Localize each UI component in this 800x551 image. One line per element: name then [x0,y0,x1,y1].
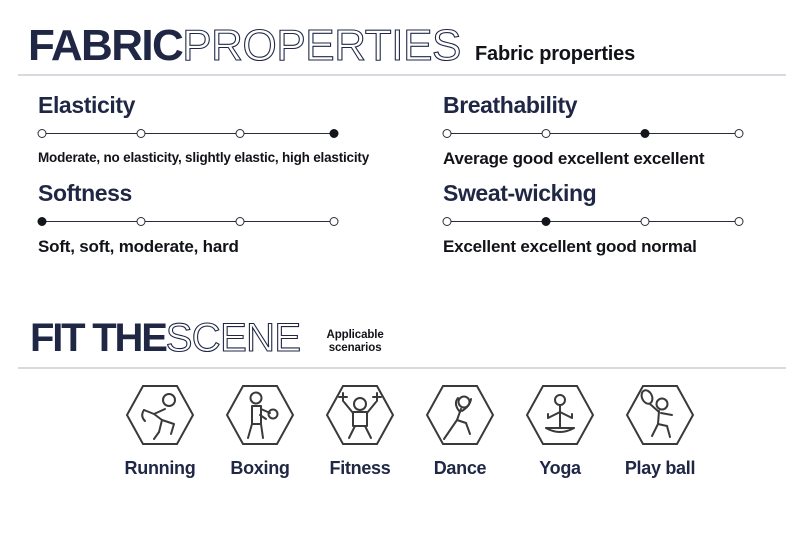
elasticity-slider[interactable] [38,127,338,141]
slider-dot-4[interactable] [735,217,744,226]
property-title: Elasticity [38,92,378,118]
slider-dot-2[interactable] [137,129,146,138]
property-breathability: Breathability Average good excellent exc… [443,92,783,169]
scene-title-bold: FIT THE [30,318,166,358]
scene-item-yoga[interactable]: Yoga [510,382,610,479]
running-hexagon-icon [124,382,196,448]
fit-the-scene-banner: FIT THE SCENE Applicable scenarios [30,318,384,358]
slider-dot-1[interactable] [38,129,47,138]
infographic-page: FABRIC PROPERTIES Fabric properties Elas… [0,0,800,551]
scene-item-play-ball[interactable]: Play ball [610,382,710,479]
slider-track [447,133,739,134]
dance-hexagon-icon [424,382,496,448]
scene-divider [18,367,786,369]
slider-dot-4[interactable] [735,129,744,138]
scene-item-fitness[interactable]: Fitness [310,382,410,479]
property-description: Moderate, no elasticity, slightly elasti… [38,149,378,166]
property-sweat-wicking: Sweat-wicking Excellent excellent good n… [443,180,783,257]
yoga-hexagon-icon [524,382,596,448]
play-ball-hexagon-icon [624,382,696,448]
scene-list: Running Boxing [110,382,710,479]
scene-label: Play ball [625,457,695,479]
slider-dot-1[interactable] [38,217,47,226]
scene-label: Fitness [330,457,391,479]
scene-item-running[interactable]: Running [110,382,210,479]
banner-title-outline: PROPERTIES [182,24,461,68]
slider-dot-3[interactable] [641,217,650,226]
scene-subtitle-line2: scenarios [329,342,382,354]
header-divider [18,74,786,76]
slider-dot-2[interactable] [542,217,551,226]
slider-dot-3[interactable] [236,217,245,226]
softness-slider[interactable] [38,215,338,229]
scene-label: Dance [434,457,487,479]
slider-dot-2[interactable] [137,217,146,226]
property-title: Breathability [443,92,783,118]
scene-label: Running [125,457,196,479]
scene-label: Yoga [539,457,580,479]
slider-track [447,221,739,222]
scene-title-outline: SCENE [166,318,301,358]
property-description: Soft, soft, moderate, hard [38,237,378,257]
slider-track [42,221,334,222]
sweat-wicking-slider[interactable] [443,215,743,229]
scene-item-dance[interactable]: Dance [410,382,510,479]
banner-title-bold: FABRIC [28,24,182,68]
property-description: Excellent excellent good normal [443,237,783,257]
banner-subtitle: Fabric properties [475,44,635,64]
slider-dot-2[interactable] [542,129,551,138]
boxing-hexagon-icon [224,382,296,448]
slider-track [42,133,334,134]
breathability-slider[interactable] [443,127,743,141]
slider-dot-4[interactable] [330,217,339,226]
slider-dot-3[interactable] [236,129,245,138]
property-title: Sweat-wicking [443,180,783,206]
slider-dot-3[interactable] [641,129,650,138]
scene-label: Boxing [230,457,289,479]
scene-subtitle: Applicable scenarios [327,329,384,355]
slider-dot-4[interactable] [330,129,339,138]
scene-subtitle-line1: Applicable [327,329,384,341]
slider-dot-1[interactable] [443,217,452,226]
property-elasticity: Elasticity Moderate, no elasticity, slig… [38,92,378,166]
property-title: Softness [38,180,378,206]
property-description: Average good excellent excellent [443,149,783,169]
property-softness: Softness Soft, soft, moderate, hard [38,180,378,257]
scene-item-boxing[interactable]: Boxing [210,382,310,479]
fabric-properties-banner: FABRIC PROPERTIES Fabric properties [28,24,635,68]
fitness-hexagon-icon [324,382,396,448]
slider-dot-1[interactable] [443,129,452,138]
